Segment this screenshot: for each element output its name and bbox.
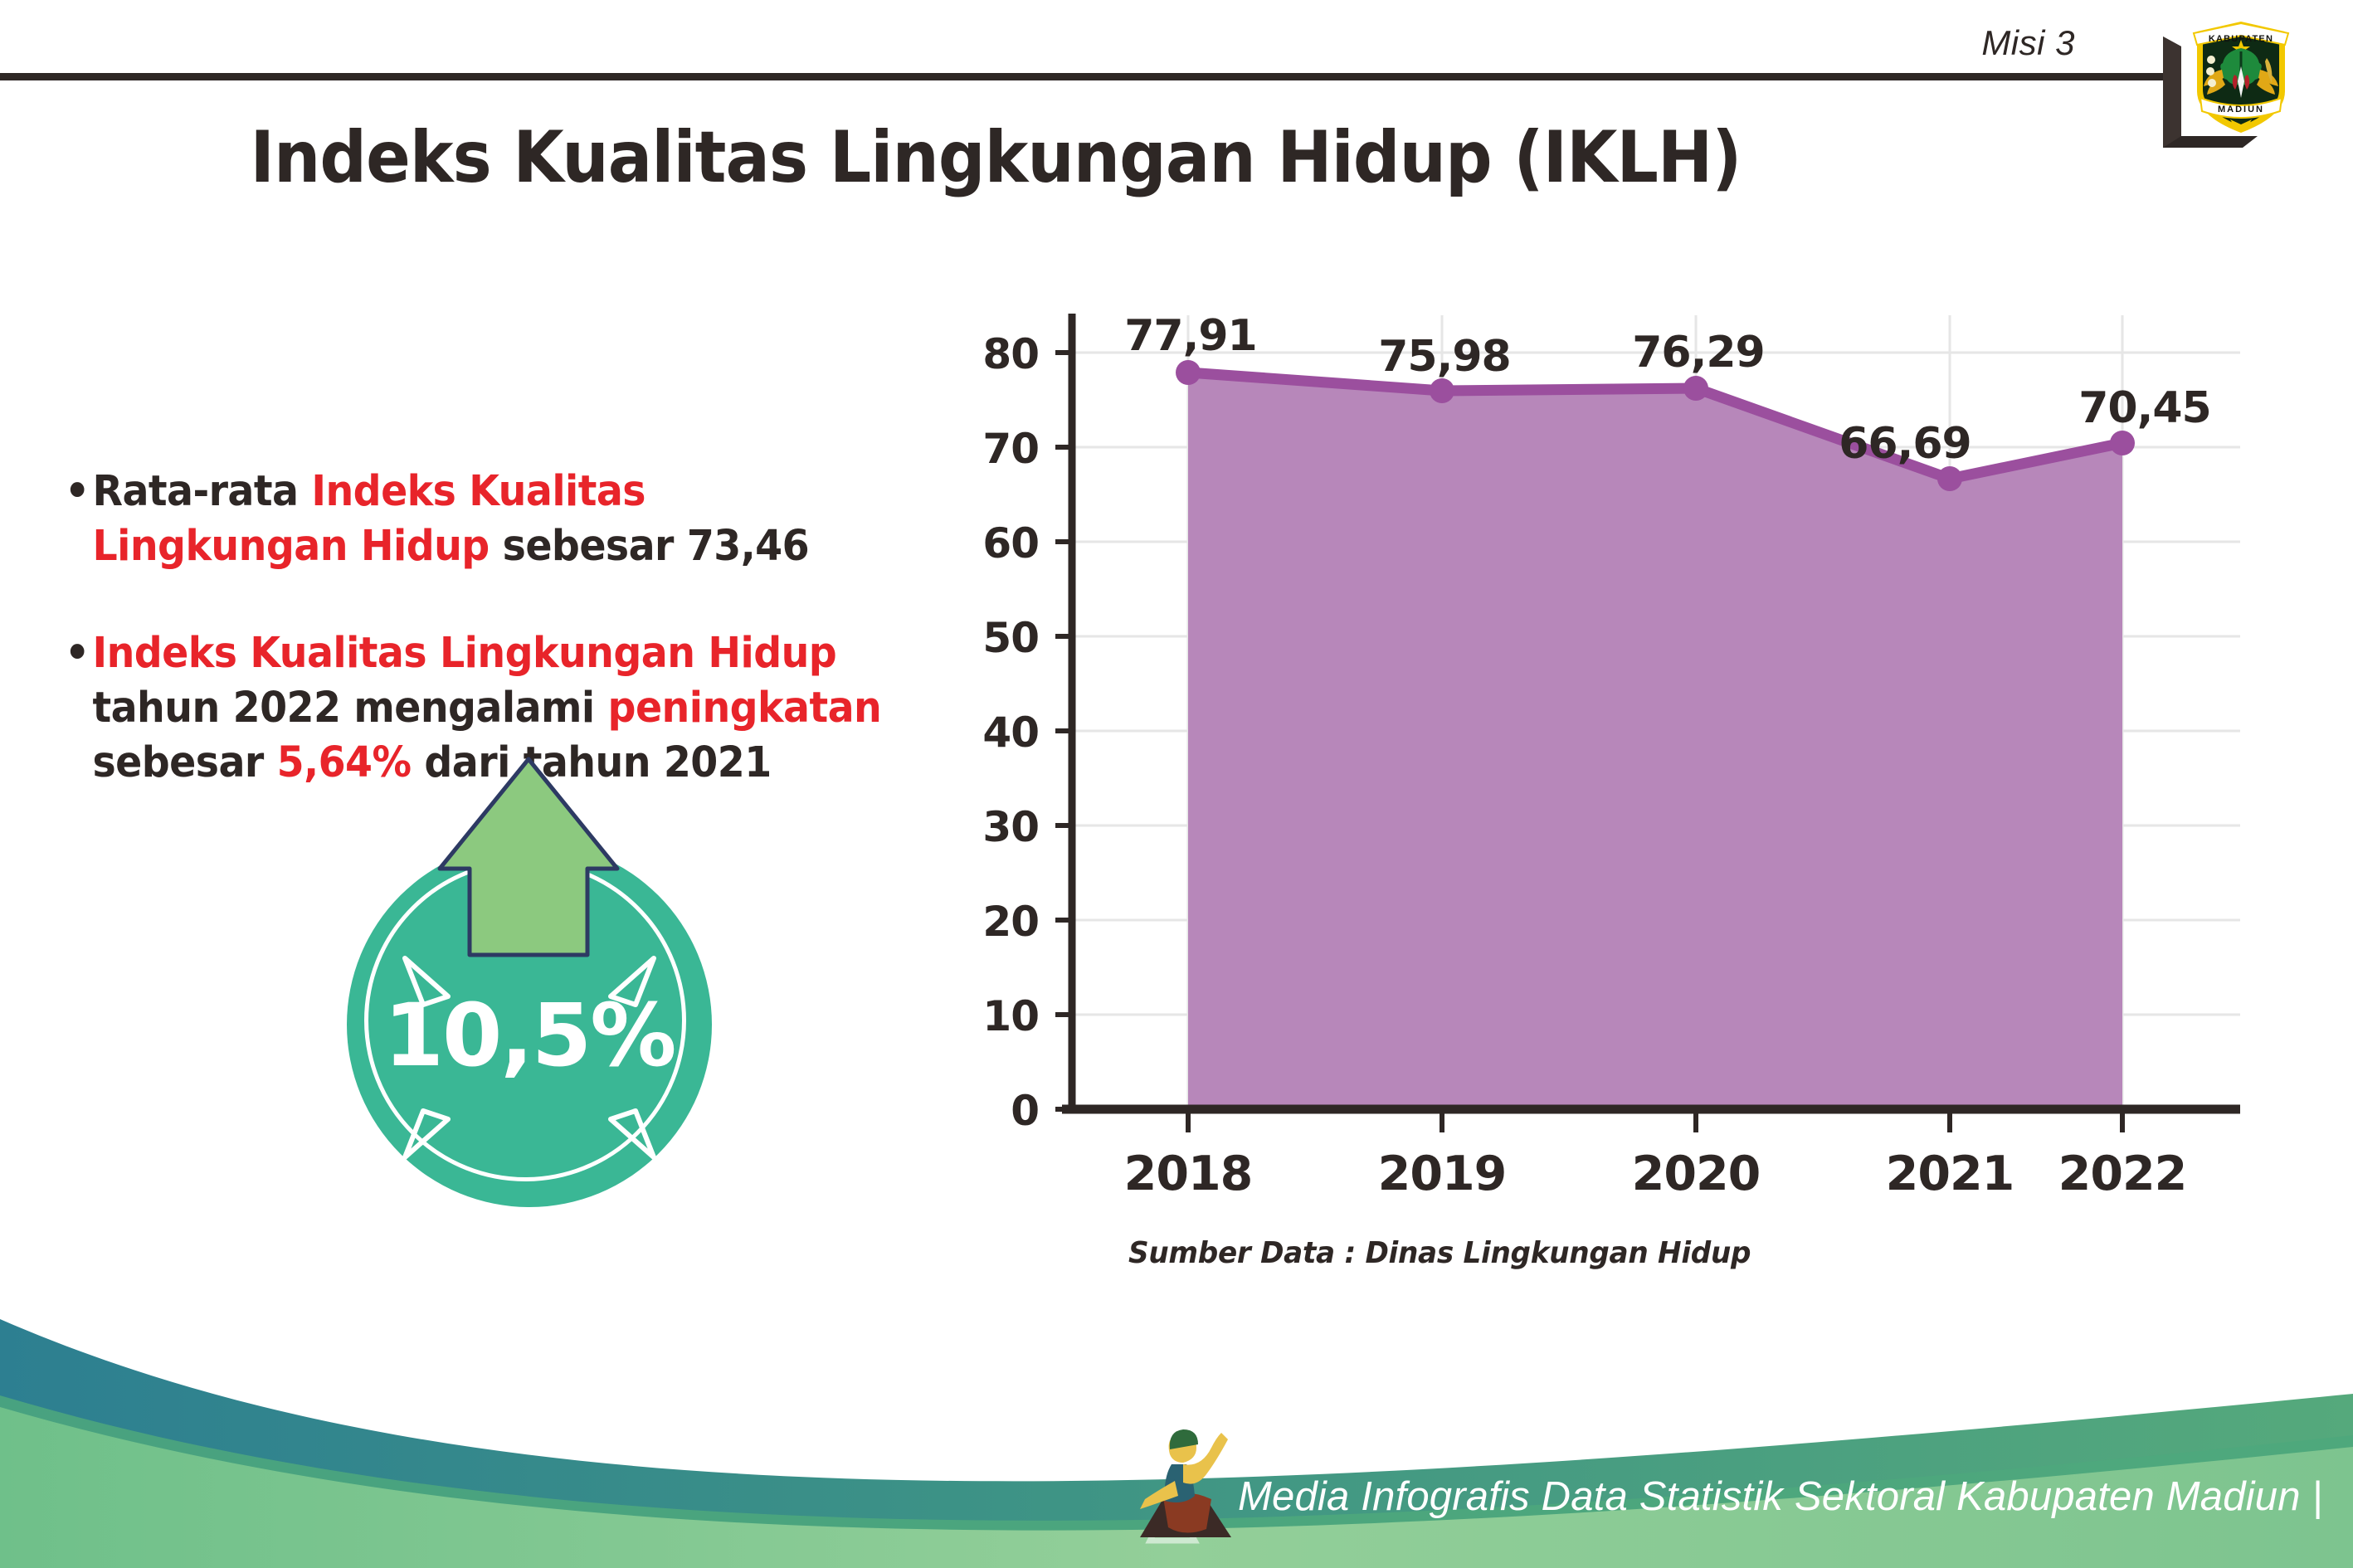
iklh-area-chart: 80 70 60 50 40 30 20 10 0 2018 2019 2020… <box>979 299 2273 1228</box>
svg-text:MADIUN: MADIUN <box>2218 105 2264 114</box>
increase-badge: 10,5% <box>324 751 755 1215</box>
bullet-text-0: Rata-rata Indeks Kualitas Lingkungan Hid… <box>92 465 905 575</box>
up-arrow-icon <box>324 751 755 1215</box>
x-tick-label: 2018 <box>1093 1147 1284 1201</box>
footer-caption: Media Infografis Data Statistik Sektoral… <box>1238 1473 2322 1520</box>
badge-value: 10,5% <box>347 985 712 1086</box>
bullet-seg-highlight: Indeks Kualitas Lingkungan Hidup <box>92 629 836 678</box>
kabupaten-madiun-crest-icon: KABUPATEN MADIUN <box>2189 15 2293 136</box>
y-tick-label: 0 <box>948 1087 1039 1135</box>
y-tick-label: 10 <box>948 992 1039 1040</box>
mission-label: Misi 3 <box>1981 23 2075 63</box>
list-item: • Rata-rata Indeks Kualitas Lingkungan H… <box>65 465 906 575</box>
y-tick-label: 20 <box>948 898 1039 946</box>
data-point-label: 66,69 <box>1810 419 2000 469</box>
x-tick-label: 2022 <box>2027 1147 2218 1201</box>
y-tick-label: 60 <box>948 519 1039 567</box>
bullet-seg: Rata-rata <box>92 467 311 516</box>
x-tick-label: 2021 <box>1854 1147 2045 1201</box>
chart-canvas <box>979 299 2273 1228</box>
bullet-seg-highlight: peningkatan <box>608 684 882 733</box>
bullet-marker-icon: • <box>65 465 90 519</box>
x-tick-label: 2020 <box>1600 1147 1791 1201</box>
summary-bullet-list: • Rata-rata Indeks Kualitas Lingkungan H… <box>65 465 969 791</box>
x-tick-label: 2019 <box>1347 1147 1537 1201</box>
area-fill <box>1188 373 2122 1109</box>
y-tick-label: 70 <box>948 425 1039 473</box>
bullet-seg: sebesar 73,46 <box>490 522 809 571</box>
header-divider-rule <box>0 73 2167 80</box>
bullet-seg: tahun 2022 mengalami <box>92 684 607 733</box>
data-point-label: 77,91 <box>1095 311 1286 361</box>
y-tick-label: 30 <box>948 803 1039 851</box>
page-title: Indeks Kualitas Lingkungan Hidup (IKLH) <box>80 116 1912 199</box>
y-tick-label: 80 <box>948 330 1039 378</box>
bullet-marker-icon: • <box>65 626 90 681</box>
y-tick-label: 40 <box>948 709 1039 757</box>
data-point-label: 75,98 <box>1349 332 1540 382</box>
bullet-seg: sebesar <box>92 738 276 787</box>
media-infografis-logo-icon <box>1135 1416 1243 1553</box>
chart-source-note: Sumber Data : Dinas Lingkungan Hidup <box>1128 1236 1751 1270</box>
y-tick-label: 50 <box>948 614 1039 662</box>
data-point-label: 76,29 <box>1603 328 1794 377</box>
data-point-label: 70,45 <box>2049 383 2240 433</box>
